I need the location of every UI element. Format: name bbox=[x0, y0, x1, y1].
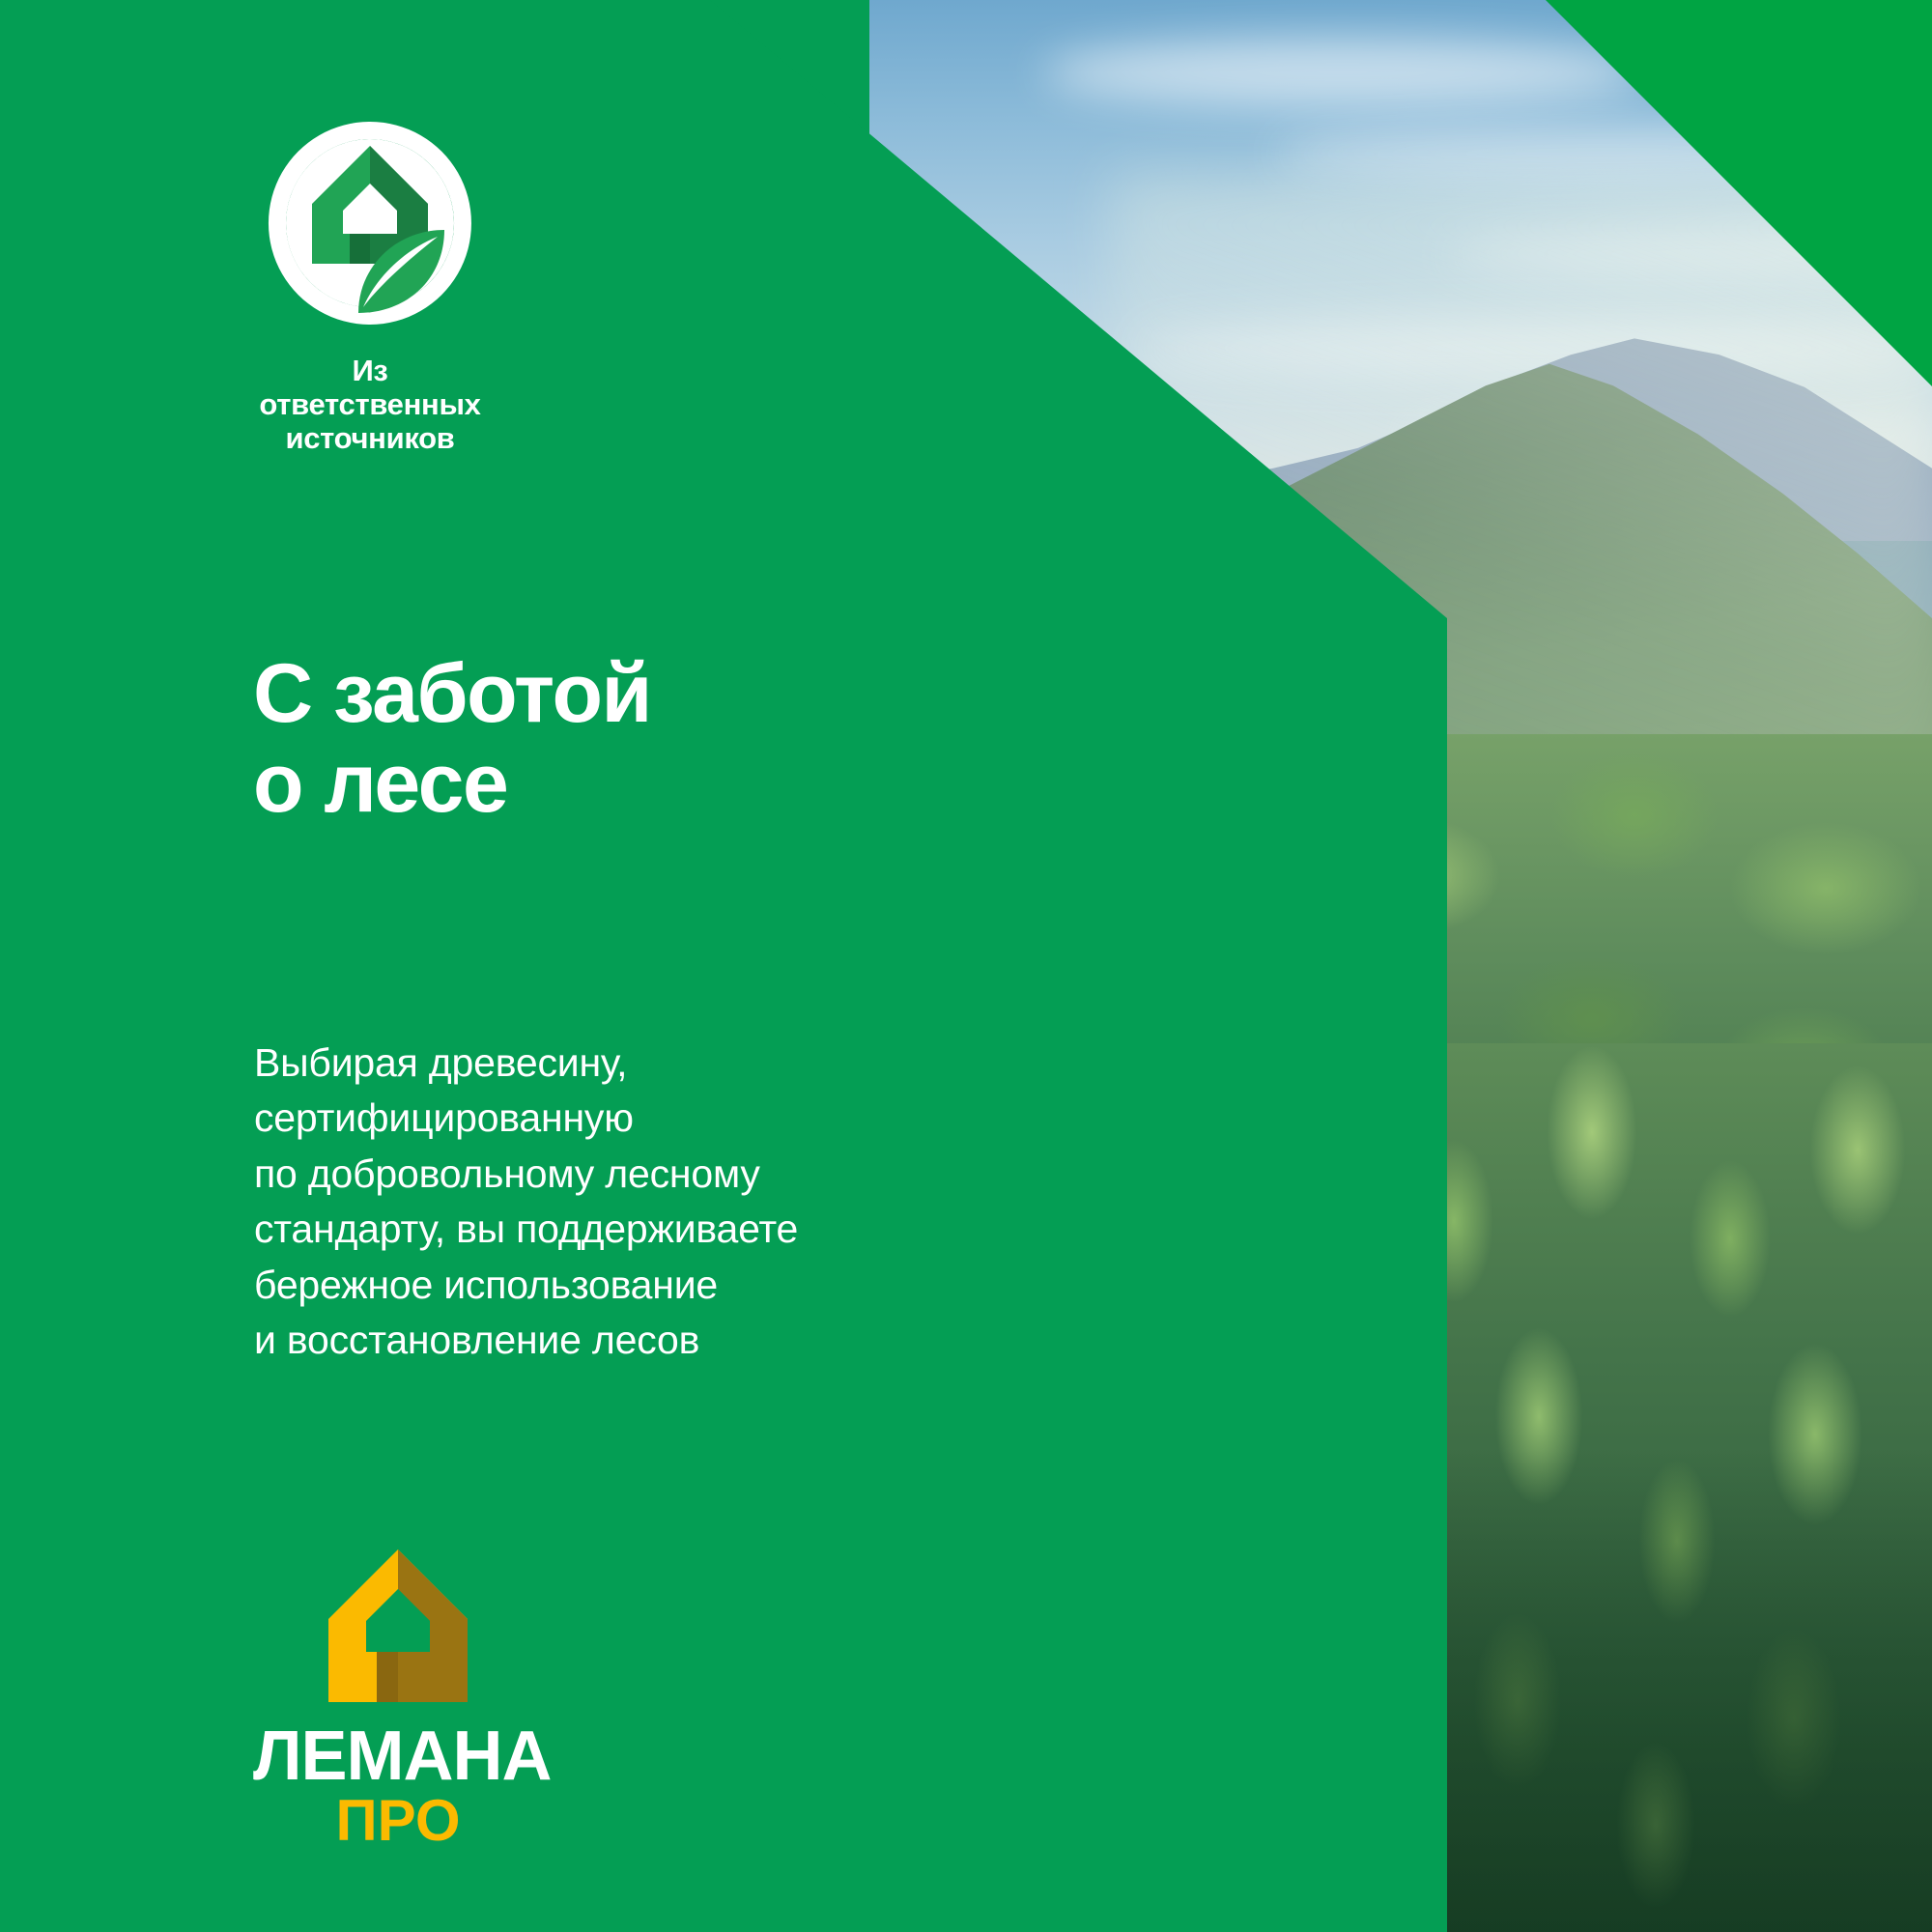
house-roof-icon bbox=[321, 1544, 475, 1708]
eco-badge-caption: Из ответственных источников bbox=[249, 354, 491, 455]
page-title: С заботой о лесе bbox=[253, 649, 651, 829]
brand-logo: ЛЕМАНА ПРО bbox=[253, 1544, 543, 1850]
house-leaf-circle-icon bbox=[261, 114, 479, 332]
brand-sub: ПРО bbox=[253, 1792, 543, 1850]
cloud bbox=[1043, 39, 1642, 106]
poster-root: Из ответственных источников С заботой о … bbox=[0, 0, 1932, 1932]
eco-badge: Из ответственных источников bbox=[249, 114, 491, 455]
brand-name: ЛЕМАНА bbox=[253, 1723, 543, 1790]
body-copy: Выбирая древесину, сертифицированную по … bbox=[254, 1036, 798, 1368]
